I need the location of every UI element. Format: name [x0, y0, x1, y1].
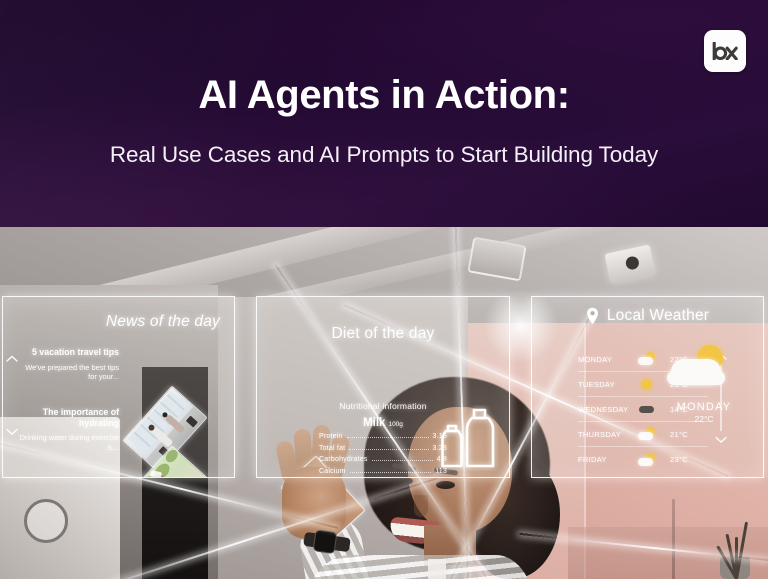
nutrition-row: Calcium 113 [319, 468, 447, 479]
news-body: Drinking water during exercise is... [15, 433, 119, 452]
forecast-day: TUESDAY [578, 380, 632, 389]
sun-behind-cloud-icon [667, 345, 741, 395]
news-list-item[interactable]: 5 vacation travel tips We've prepared th… [15, 347, 200, 395]
woman-drinking-water-thumbnail [122, 445, 207, 478]
news-scrollbar[interactable] [6, 355, 20, 435]
news-text: The importance of hydrating Drinking wat… [15, 407, 119, 455]
forecast-day: FRIDAY [578, 455, 632, 464]
sun-behind-cloud-icon [638, 453, 656, 467]
wall-clock [24, 499, 68, 543]
rain-cloud-icon [638, 402, 656, 416]
forecast-temp: 21°C [662, 430, 688, 439]
weather-card-title: Local Weather [607, 307, 709, 325]
mirrored-scene: Local Weather MONDAY 22°C TUESDAY [0, 227, 768, 579]
banner-header: AI Agents in Action: Real Use Cases and … [0, 0, 768, 227]
news-card[interactable]: News of the day 5 vacation travel tips W… [2, 296, 235, 478]
news-headline: 5 vacation travel tips [15, 347, 119, 358]
nutrient-label: Carbohydrates [319, 456, 368, 463]
sun-behind-cloud-icon [638, 352, 656, 366]
nutrition-table: Protein 3.15 Total fat 3.25 Carbohydrate… [319, 433, 447, 478]
location-pin-icon [586, 307, 599, 325]
forecast-temp: 23°C [662, 455, 688, 464]
hero-photo: Local Weather MONDAY 22°C TUESDAY [0, 227, 768, 579]
sun-icon [638, 377, 656, 391]
nutrition-row: Total fat 3.25 [319, 445, 447, 457]
chevron-down-icon[interactable] [6, 428, 18, 435]
news-card-title: News of the day [106, 313, 220, 331]
diet-card[interactable]: Diet of the day Nutritional information … [256, 296, 510, 478]
promo-banner: AI Agents in Action: Real Use Cases and … [0, 0, 768, 579]
bx-logo-mark [712, 42, 738, 60]
shirt-placket [428, 559, 446, 579]
news-body: We've prepared the best tips for your... [15, 363, 119, 382]
weather-card[interactable]: Local Weather MONDAY 22°C TUESDAY [531, 296, 764, 478]
featured-temp: 22°C [656, 414, 752, 424]
chevron-down-icon[interactable] [715, 436, 727, 443]
bx-logo[interactable] [704, 30, 746, 72]
striped-shirt [304, 555, 536, 579]
nutrient-label: Protein [319, 433, 343, 440]
nutrient-label: Calcium [319, 468, 346, 475]
page-subtitle: Real Use Cases and AI Prompts to Start B… [110, 142, 658, 168]
nutrient-label: Total fat [319, 445, 345, 452]
diet-card-title: Diet of the day [257, 325, 509, 343]
forecast-row[interactable]: THURSDAY 21°C [578, 422, 708, 447]
forecast-day: WEDNESDAY [578, 405, 632, 414]
news-text: 5 vacation travel tips We've prepared th… [15, 347, 119, 395]
forecast-day: THURSDAY [578, 430, 632, 439]
featured-day: MONDAY [656, 401, 752, 413]
page-title: AI Agents in Action: [198, 74, 569, 116]
chevron-up-icon[interactable] [6, 355, 18, 362]
forecast-row[interactable]: FRIDAY 23°C [578, 447, 708, 472]
news-headline: The importance of hydrating [15, 407, 119, 428]
sun-behind-cloud-icon [638, 427, 656, 441]
ceiling-spotlight [604, 245, 655, 284]
nutrition-row: Protein 3.15 [319, 433, 447, 445]
featured-weather: MONDAY 22°C [656, 345, 752, 424]
milk-bottles-icon [437, 405, 499, 471]
nutrition-row: Carbohydrates 4.8 [319, 456, 447, 468]
weather-card-header: Local Weather [532, 307, 763, 325]
wall-trim [672, 499, 675, 579]
news-list-item[interactable]: The importance of hydrating Drinking wat… [15, 407, 200, 455]
dried-plant [694, 515, 764, 579]
forecast-day: MONDAY [578, 355, 632, 364]
header-text-block: AI Agents in Action: Real Use Cases and … [0, 0, 768, 227]
